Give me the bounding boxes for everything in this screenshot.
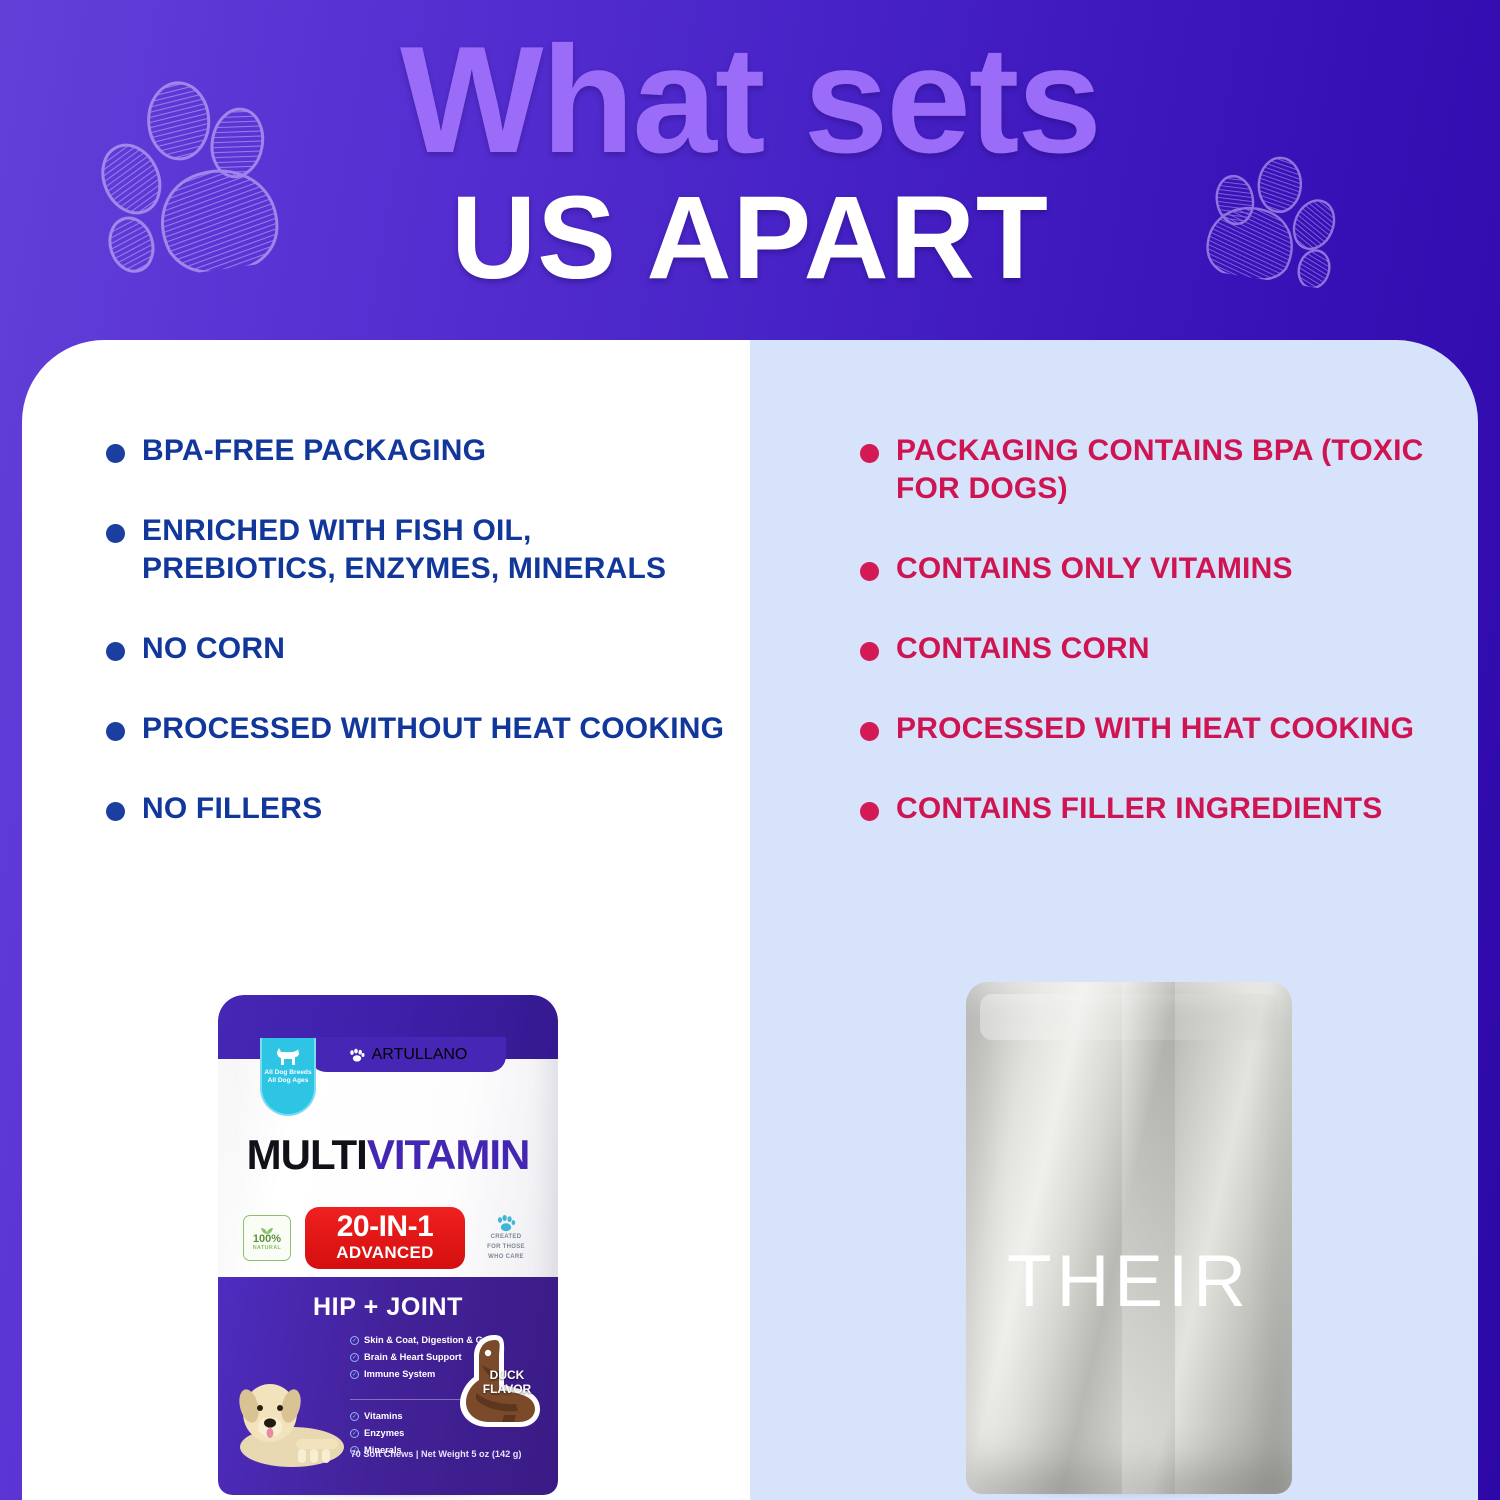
product-pouch-ours: ARTULLANO All Dog Breeds All Dog Ages MU… xyxy=(218,995,558,1495)
panel-theirs: PACKAGING CONTAINS BPA (TOXIC FOR DOGS) … xyxy=(750,340,1478,1500)
natural-badge: 100% NATURAL xyxy=(243,1215,291,1261)
page-title: What sets US APART xyxy=(0,28,1500,299)
bullet-dot-icon xyxy=(860,802,879,821)
their-label: THEIR xyxy=(966,1240,1292,1323)
title-line-one: What sets xyxy=(0,28,1500,172)
list-item: CONTAINS FILLER INGREDIENTS xyxy=(860,790,1460,828)
advanced-main-label: 20-IN-1 xyxy=(337,1212,434,1242)
list-item-label: CONTAINS FILLER INGREDIENTS xyxy=(896,790,1383,828)
check-icon: ✓ xyxy=(350,1412,359,1421)
benefit-label: Immune System xyxy=(364,1369,435,1379)
flavor-line-two: FLAVOR xyxy=(476,1383,538,1397)
list-item: PROCESSED WITHOUT HEAT COOKING xyxy=(106,710,726,748)
nutrient-label: Vitamins xyxy=(364,1411,403,1421)
brand-name: ARTULLANO xyxy=(372,1046,468,1064)
natural-percent: 100% xyxy=(253,1234,281,1245)
list-item-label: PROCESSED WITHOUT HEAT COOKING xyxy=(142,710,724,748)
list-item: PACKAGING CONTAINS BPA (TOXIC FOR DOGS) xyxy=(860,432,1460,508)
title-line-two: US APART xyxy=(0,178,1500,298)
bullet-dot-icon xyxy=(860,444,879,463)
care-line-three: WHO CARE xyxy=(488,1254,524,1262)
list-item-label: CONTAINS CORN xyxy=(896,630,1150,668)
list-item: BPA-FREE PACKAGING xyxy=(106,432,726,470)
pouch-lower-panel: HIP + JOINT ✓ Skin & Coat, Digestion & G… xyxy=(218,1277,558,1495)
list-item: NO FILLERS xyxy=(106,790,726,828)
paw-print-icon xyxy=(496,1214,516,1232)
theirs-feature-list: PACKAGING CONTAINS BPA (TOXIC FOR DOGS) … xyxy=(860,432,1460,871)
list-item: PROCESSED WITH HEAT COOKING xyxy=(860,710,1460,748)
list-item: ENRICHED WITH FISH OIL, PREBIOTICS, ENZY… xyxy=(106,512,726,588)
ours-feature-list: BPA-FREE PACKAGING ENRICHED WITH FISH OI… xyxy=(106,432,726,871)
bullet-dot-icon xyxy=(860,562,879,581)
natural-word: NATURAL xyxy=(253,1245,281,1251)
comparison-panels: BPA-FREE PACKAGING ENRICHED WITH FISH OI… xyxy=(22,340,1478,1500)
check-icon: ✓ xyxy=(350,1336,359,1345)
breed-line-one: All Dog Breeds xyxy=(264,1069,311,1077)
bullet-dot-icon xyxy=(860,642,879,661)
benefit-label: Brain & Heart Support xyxy=(364,1352,462,1362)
dog-silhouette-icon xyxy=(273,1045,303,1069)
list-item-label: NO FILLERS xyxy=(142,790,322,828)
panel-ours: BPA-FREE PACKAGING ENRICHED WITH FISH OI… xyxy=(22,340,750,1500)
header-banner: What sets US APART xyxy=(0,0,1500,345)
care-line-two: FOR THOSE xyxy=(487,1244,525,1252)
list-item-label: NO CORN xyxy=(142,630,285,668)
care-line-one: CREATED xyxy=(491,1234,522,1242)
bullet-dot-icon xyxy=(106,524,125,543)
product-name-part-two: VITAMIN xyxy=(367,1131,530,1178)
silver-pouch-body: THEIR xyxy=(966,982,1292,1494)
badge-row: 100% NATURAL 20-IN-1 ADVANCED xyxy=(218,1203,558,1273)
bullet-dot-icon xyxy=(106,802,125,821)
list-item: NO CORN xyxy=(106,630,726,668)
list-item-label: PROCESSED WITH HEAT COOKING xyxy=(896,710,1414,748)
list-item-label: ENRICHED WITH FISH OIL, PREBIOTICS, ENZY… xyxy=(142,512,726,588)
list-item: CONTAINS ONLY VITAMINS xyxy=(860,550,1460,588)
list-item-label: PACKAGING CONTAINS BPA (TOXIC FOR DOGS) xyxy=(896,432,1460,508)
brand-badge: ARTULLANO xyxy=(310,1037,506,1072)
product-pouch-theirs: THEIR xyxy=(966,982,1292,1494)
check-icon: ✓ xyxy=(350,1353,359,1362)
paw-print-icon xyxy=(349,1048,365,1062)
pouch-body: ARTULLANO All Dog Breeds All Dog Ages MU… xyxy=(218,995,558,1495)
care-badge: CREATED FOR THOSE WHO CARE xyxy=(479,1214,533,1261)
breed-badge: All Dog Breeds All Dog Ages xyxy=(260,1038,316,1116)
list-item: CONTAINS CORN xyxy=(860,630,1460,668)
advanced-badge: 20-IN-1 ADVANCED xyxy=(305,1207,465,1269)
flavor-label: DUCK FLAVOR xyxy=(476,1369,538,1397)
bullet-dot-icon xyxy=(106,642,125,661)
product-name: MULTIVITAMIN xyxy=(218,1131,558,1179)
bullet-dot-icon xyxy=(106,722,125,741)
product-name-part-one: MULTI xyxy=(247,1131,367,1178)
divider xyxy=(350,1399,460,1400)
advanced-sub-label: ADVANCED xyxy=(336,1242,433,1264)
nutrient-label: Enzymes xyxy=(364,1428,404,1438)
breed-line-two: All Dog Ages xyxy=(268,1077,309,1085)
pouch-fold xyxy=(1122,982,1174,1494)
check-icon: ✓ xyxy=(350,1429,359,1438)
bullet-dot-icon xyxy=(860,722,879,741)
list-item-label: CONTAINS ONLY VITAMINS xyxy=(896,550,1293,588)
list-item-label: BPA-FREE PACKAGING xyxy=(142,432,486,470)
check-icon: ✓ xyxy=(350,1370,359,1379)
product-subtitle: HIP + JOINT xyxy=(218,1293,558,1322)
net-weight-label: 70 Soft Chews | Net Weight 5 oz (142 g) xyxy=(218,1449,558,1459)
flavor-line-one: DUCK xyxy=(476,1369,538,1383)
bullet-dot-icon xyxy=(106,444,125,463)
